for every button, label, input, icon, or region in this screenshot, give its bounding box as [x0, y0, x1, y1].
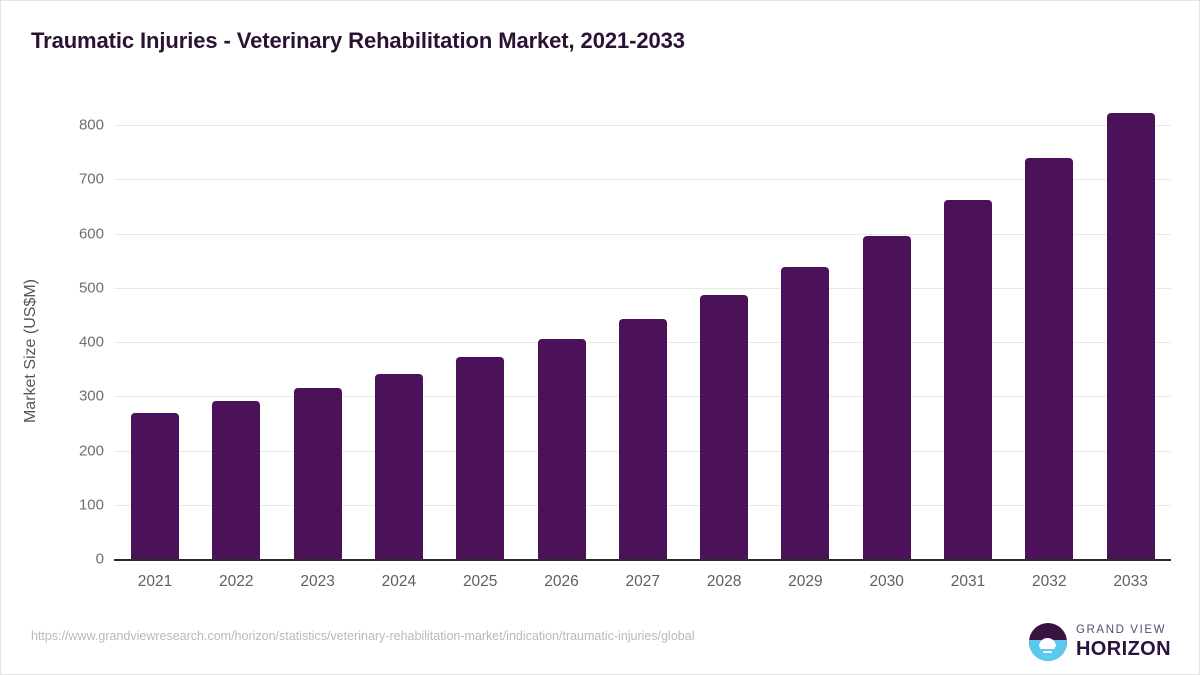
x-tick-label: 2032: [1009, 573, 1090, 591]
x-tick-label: 2022: [196, 573, 277, 591]
bar[interactable]: [781, 267, 829, 559]
x-tick-label: 2021: [115, 573, 196, 591]
y-tick-label: 300: [16, 388, 104, 405]
x-tick-label: 2027: [602, 573, 683, 591]
bar[interactable]: [863, 236, 911, 559]
x-tick-label: 2026: [521, 573, 602, 591]
bar[interactable]: [944, 200, 992, 559]
y-tick-label: 800: [16, 117, 104, 134]
gridline: [114, 234, 1171, 235]
sunset-horizon-circle-icon: [1029, 623, 1067, 661]
logo-text-grand-view: GRAND VIEW: [1076, 625, 1171, 637]
y-tick-label: 500: [16, 279, 104, 296]
y-tick-label: 600: [16, 225, 104, 242]
y-tick-label: 100: [16, 496, 104, 513]
x-tick-label: 2030: [846, 573, 927, 591]
logo-wordmark: GRAND VIEW HORIZON: [1076, 625, 1171, 660]
y-tick-label: 400: [16, 334, 104, 351]
logo-text-horizon: HORIZON: [1076, 639, 1171, 659]
grand-view-horizon-logo[interactable]: GRAND VIEW HORIZON: [1029, 621, 1171, 663]
chart-page: Traumatic Injuries - Veterinary Rehabili…: [0, 0, 1200, 675]
bar[interactable]: [375, 374, 423, 559]
bar[interactable]: [1107, 113, 1155, 559]
y-tick-label: 200: [16, 442, 104, 459]
x-tick-label: 2029: [765, 573, 846, 591]
x-axis-line: [114, 559, 1171, 561]
logo-ray-line-1: [1040, 647, 1055, 649]
logo-sun-shape: [1039, 638, 1056, 647]
bar[interactable]: [1025, 158, 1073, 559]
logo-ray-line-2: [1043, 651, 1052, 653]
bar[interactable]: [294, 388, 342, 559]
bar[interactable]: [131, 413, 179, 559]
y-tick-label: 0: [16, 551, 104, 568]
x-tick-label: 2031: [928, 573, 1009, 591]
x-tick-label: 2024: [358, 573, 439, 591]
bar[interactable]: [212, 401, 260, 559]
page-title: Traumatic Injuries - Veterinary Rehabili…: [31, 28, 685, 54]
bar[interactable]: [456, 357, 504, 559]
bar[interactable]: [619, 319, 667, 559]
gridline: [114, 125, 1171, 126]
bar[interactable]: [538, 339, 586, 559]
bar[interactable]: [700, 295, 748, 559]
source-url[interactable]: https://www.grandviewresearch.com/horizo…: [31, 629, 694, 643]
gridline: [114, 288, 1171, 289]
x-tick-label: 2033: [1090, 573, 1171, 591]
y-tick-label: 700: [16, 171, 104, 188]
x-tick-label: 2025: [440, 573, 521, 591]
x-tick-label: 2028: [684, 573, 765, 591]
gridline: [114, 179, 1171, 180]
plot-area: [114, 125, 1171, 559]
x-tick-label: 2023: [277, 573, 358, 591]
